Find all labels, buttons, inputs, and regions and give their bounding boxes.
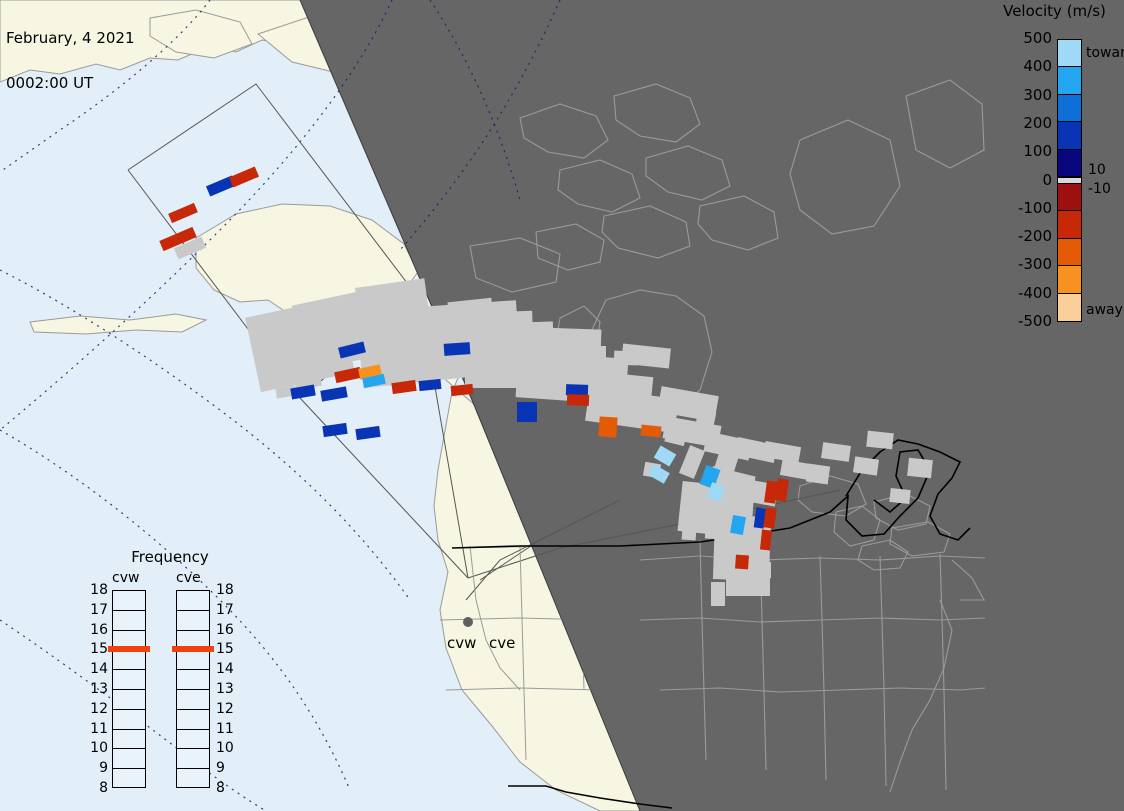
colorbar-toward-threshold: 10 (1088, 163, 1106, 177)
colorbar-tick-label: -100 (1004, 201, 1052, 216)
ground-scatter-cell (614, 351, 638, 366)
colorbar-label-away: away (1086, 303, 1123, 317)
frequency-tick-label: 11 (86, 722, 108, 736)
colorbar-tick-label: -400 (1004, 286, 1052, 301)
velocity-cell (735, 555, 749, 570)
frequency-tick-label: 10 (216, 741, 238, 755)
colorbar-band (1058, 150, 1081, 177)
colorbar-tick-label: 0 (1004, 173, 1052, 188)
colorbar-tick-label: -300 (1004, 257, 1052, 272)
frequency-scale-cell (177, 749, 209, 769)
colorbar-band (1058, 211, 1081, 238)
colorbar-band (1058, 122, 1081, 149)
ground-scatter-cell (711, 582, 725, 606)
colorbar-tick-label: -500 (1004, 314, 1052, 329)
colorbar-tick-label: 200 (1004, 116, 1052, 131)
colorbar-tick-label: 300 (1004, 88, 1052, 103)
frequency-scale-cvw[interactable] (112, 590, 146, 788)
frequency-tick-label: 10 (86, 741, 108, 755)
frequency-scale-cve[interactable] (176, 590, 210, 788)
colorbar-zero-gap (1058, 177, 1081, 184)
frequency-scale-cell (113, 650, 145, 670)
site-label-cve: cve (489, 634, 515, 652)
radar-map-figure: February, 4 2021 0002:00 UT cvw cve Velo… (0, 0, 1124, 811)
frequency-scale-cell (177, 591, 209, 611)
frequency-tick-label: 12 (216, 702, 238, 716)
frequency-tick-label: 11 (216, 722, 238, 736)
velocity-colorbar[interactable] (1057, 39, 1082, 322)
frequency-tick-label: 14 (216, 662, 238, 676)
velocity-cell (444, 342, 471, 356)
colorbar-tick-label: 500 (1004, 31, 1052, 46)
velocity-cell (760, 530, 772, 551)
colorbar-band (1058, 239, 1081, 266)
frequency-tick-label: 17 (216, 603, 238, 617)
ground-scatter-cell (806, 464, 830, 485)
frequency-scale-cell (113, 769, 145, 789)
frequency-legend: Frequency cvw cve 18171615141312111098 1… (90, 548, 260, 788)
frequency-scale-cell (177, 769, 209, 789)
frequency-tick-label: 9 (86, 761, 108, 775)
frequency-scale-cell (113, 710, 145, 730)
colorbar-band (1058, 266, 1081, 293)
colorbar-tick-label: 400 (1004, 59, 1052, 74)
frequency-tick-label: 16 (216, 623, 238, 637)
frequency-tick-label: 12 (86, 702, 108, 716)
frequency-column-header-cvw: cvw (112, 570, 139, 586)
frequency-scale-cell (113, 690, 145, 710)
colorbar-ticks: 5004003002001000-100-200-300-400-500 (1002, 0, 1052, 340)
frequency-tick-label: 15 (216, 642, 238, 656)
ground-scatter-cell (889, 488, 910, 504)
ground-scatter-cell (853, 456, 879, 475)
velocity-cell (517, 402, 537, 422)
frequency-scale-cell (113, 730, 145, 750)
frequency-scale-cell (177, 670, 209, 690)
frequency-scale-cell (113, 749, 145, 769)
velocity-cell (598, 416, 617, 437)
colorbar-band (1058, 67, 1081, 94)
frequency-scale-cell (177, 690, 209, 710)
frequency-scale-cell (177, 611, 209, 631)
frequency-tick-label: 8 (216, 781, 238, 795)
frequency-tick-label: 18 (216, 583, 238, 597)
frequency-tick-label: 16 (86, 623, 108, 637)
frequency-tick-label: 18 (86, 583, 108, 597)
frequency-scale-cell (177, 730, 209, 750)
colorbar-away-threshold: -10 (1088, 182, 1111, 196)
ground-scatter-cell (907, 458, 933, 478)
velocity-cell (567, 394, 589, 406)
ground-scatter-cell (578, 346, 606, 358)
ground-scatter-cell (866, 431, 894, 450)
colorbar-band (1058, 40, 1081, 67)
colorbar-band (1058, 95, 1081, 122)
frequency-tick-label: 8 (86, 781, 108, 795)
frequency-tick-label: 13 (216, 682, 238, 696)
colorbar-band (1058, 184, 1081, 211)
ground-scatter-cell (519, 321, 553, 334)
time-label: 0002:00 UT (6, 76, 135, 91)
frequency-scale-cell (177, 710, 209, 730)
frequency-tick-label: 17 (86, 603, 108, 617)
frequency-tick-label: 14 (86, 662, 108, 676)
frequency-scale-cell (113, 670, 145, 690)
frequency-column-header-cve: cve (176, 570, 201, 586)
frequency-marker-cve (172, 646, 214, 652)
colorbar-label-toward: toward (1086, 46, 1124, 60)
velocity-cell (640, 424, 661, 437)
ground-scatter-cell (682, 500, 699, 541)
frequency-scale-cell (177, 650, 209, 670)
radar-site-dot (463, 617, 473, 627)
frequency-tick-label: 9 (216, 761, 238, 775)
colorbar-tick-label: 100 (1004, 144, 1052, 159)
frequency-scale-cell (113, 611, 145, 631)
frequency-tick-label: 15 (86, 642, 108, 656)
frequency-legend-title: Frequency (90, 548, 250, 566)
date-label: February, 4 2021 (6, 31, 135, 46)
colorbar-tick-label: -200 (1004, 229, 1052, 244)
frequency-tick-label: 13 (86, 682, 108, 696)
frequency-scale-cell (113, 591, 145, 611)
colorbar-band (1058, 294, 1081, 321)
timestamp-block: February, 4 2021 0002:00 UT (6, 1, 135, 121)
frequency-marker-cvw (108, 646, 150, 652)
velocity-cell (566, 384, 588, 396)
ground-scatter-cell (749, 562, 771, 578)
site-label-cvw: cvw (447, 634, 476, 652)
